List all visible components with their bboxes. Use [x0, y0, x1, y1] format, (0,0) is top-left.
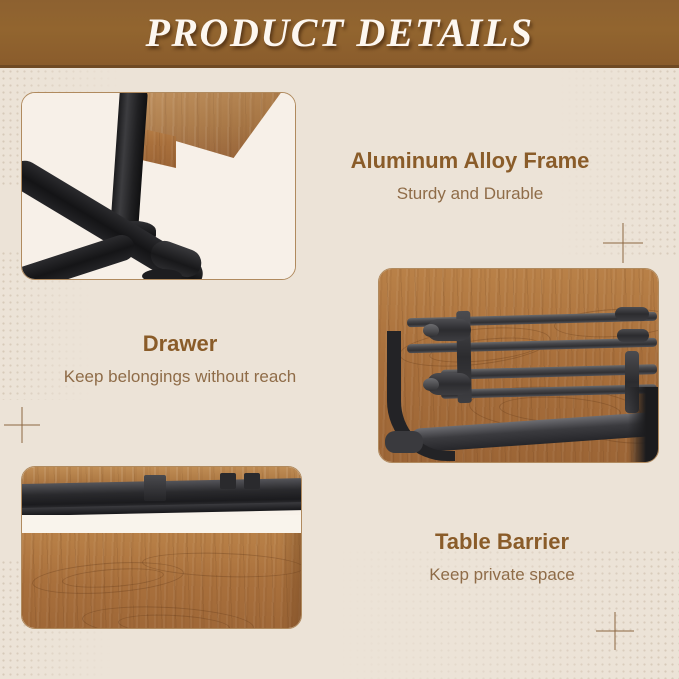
feature-subtitle: Sturdy and Durable	[310, 182, 630, 207]
feature-subtitle: Keep private space	[352, 563, 652, 588]
product-details-infographic: PRODUCT DETAILS	[0, 0, 679, 679]
photo-panel-table-barrier	[378, 268, 659, 463]
feature-title: Table Barrier	[352, 528, 652, 556]
caption-aluminum-alloy-frame: Aluminum Alloy Frame Sturdy and Durable	[310, 147, 630, 206]
caption-drawer: Drawer Keep belongings without reach	[20, 330, 340, 389]
photo-drawer	[22, 467, 301, 628]
plus-decor-icon	[596, 612, 634, 650]
photo-aluminum-alloy-frame	[22, 93, 295, 279]
feature-subtitle: Keep belongings without reach	[20, 365, 340, 390]
photo-panel-drawer	[21, 466, 302, 629]
caption-table-barrier: Table Barrier Keep private space	[352, 528, 652, 587]
page-title: PRODUCT DETAILS	[145, 13, 533, 53]
header-banner: PRODUCT DETAILS	[0, 0, 679, 68]
feature-title: Aluminum Alloy Frame	[310, 147, 630, 175]
photo-table-barrier	[379, 269, 658, 462]
plus-decor-icon	[603, 223, 643, 263]
feature-title: Drawer	[20, 330, 340, 358]
photo-panel-aluminum-alloy-frame	[21, 92, 296, 280]
plus-decor-icon	[4, 407, 40, 443]
